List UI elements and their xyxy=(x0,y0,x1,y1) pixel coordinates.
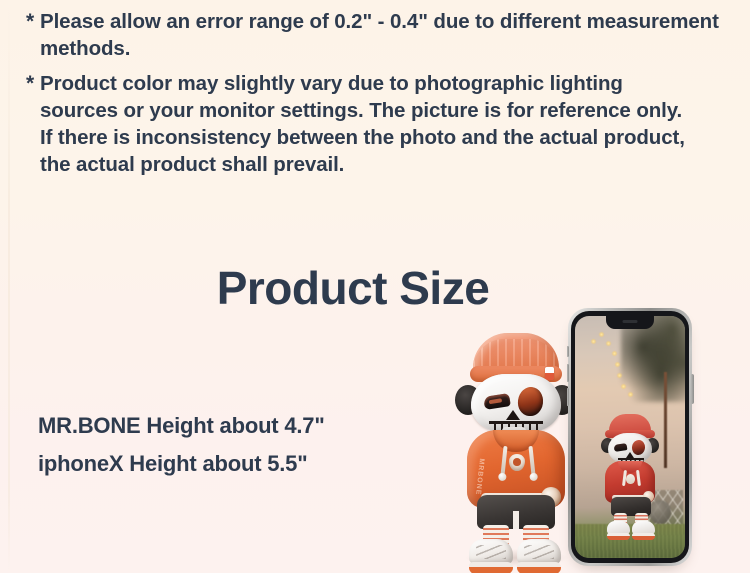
figure-shoe-left xyxy=(469,539,513,573)
figure-shorts xyxy=(477,495,555,529)
string-light-bulb xyxy=(621,384,626,389)
disclaimer-item: * Please allow an error range of 0.2" - … xyxy=(26,8,732,62)
disclaimer-block: * Please allow an error range of 0.2" - … xyxy=(26,8,732,186)
page-title: Product Size xyxy=(0,261,706,315)
string-light-bulb xyxy=(612,351,617,356)
skull-eye-left-icon xyxy=(483,393,511,410)
shoe-laces xyxy=(476,545,506,559)
measurement-line-mrbone: MR.BONE Height about 4.7" xyxy=(38,407,325,445)
screen-figure-shoe-left xyxy=(607,521,630,540)
shoe-upper xyxy=(517,539,561,564)
screen-shoe-sole xyxy=(607,533,630,540)
bullet-asterisk-icon: * xyxy=(26,70,40,97)
beanie-tag xyxy=(545,367,554,380)
screen-hoodie-chest-logo-icon xyxy=(626,474,635,484)
string-light-bulb xyxy=(617,373,622,378)
phone-frame xyxy=(568,308,692,566)
phone-bezel xyxy=(571,311,689,563)
skull-nose-icon xyxy=(506,410,520,420)
string-light-bulb xyxy=(606,341,611,346)
iphone-x-image xyxy=(568,308,692,566)
figure-shoe-right xyxy=(517,539,561,573)
disclaimer-text-color: Product color may slightly vary due to p… xyxy=(40,70,692,178)
shoe-sole xyxy=(469,562,513,573)
string-light-bulb xyxy=(615,362,620,367)
phone-power-button xyxy=(691,374,694,404)
disclaimer-text-measurement: Please allow an error range of 0.2" - 0.… xyxy=(40,8,730,62)
phone-notch xyxy=(606,316,654,329)
disclaimer-item: * Product color may slightly vary due to… xyxy=(26,70,732,178)
figure-skull-head xyxy=(471,374,561,432)
screen-scene-pole xyxy=(664,372,667,468)
screen-mr-bone-figure xyxy=(601,414,659,542)
phone-volume-down-button xyxy=(567,388,570,406)
string-light-bulb xyxy=(628,392,633,397)
phone-screen xyxy=(575,316,685,558)
bullet-asterisk-icon: * xyxy=(26,8,40,35)
hoodie-drawstring-right xyxy=(528,446,535,476)
string-light-bulb xyxy=(591,339,596,344)
phone-volume-up-button xyxy=(567,364,570,382)
screen-figure-skull-head xyxy=(608,433,652,463)
phone-earpiece-speaker xyxy=(623,320,638,323)
shoe-laces xyxy=(524,545,554,559)
string-light-bulb xyxy=(599,332,604,337)
phone-mute-switch xyxy=(567,346,570,357)
screen-skull-eye-left-icon xyxy=(614,443,628,452)
hoodie-drawstring-left xyxy=(500,446,507,476)
skull-eye-right-icon xyxy=(516,386,544,418)
product-size-infographic: * Please allow an error range of 0.2" - … xyxy=(0,0,750,573)
screen-hoodie-drawstring-right xyxy=(636,470,640,486)
shoe-sole xyxy=(517,562,561,573)
hoodie-sleeve-text: MRBONE xyxy=(469,457,485,496)
screen-scene-string-lights xyxy=(595,330,641,402)
screen-shoe-sole xyxy=(632,533,655,540)
measurement-list: MR.BONE Height about 4.7" iphoneX Height… xyxy=(38,407,325,483)
measurement-line-iphonex: iphoneX Height about 5.5" xyxy=(38,445,325,483)
hoodie-chest-logo-icon xyxy=(509,454,525,471)
shoe-upper xyxy=(469,539,513,564)
screen-figure-shoe-right xyxy=(632,521,655,540)
mr-bone-figure-image: MRBONE xyxy=(455,333,577,573)
